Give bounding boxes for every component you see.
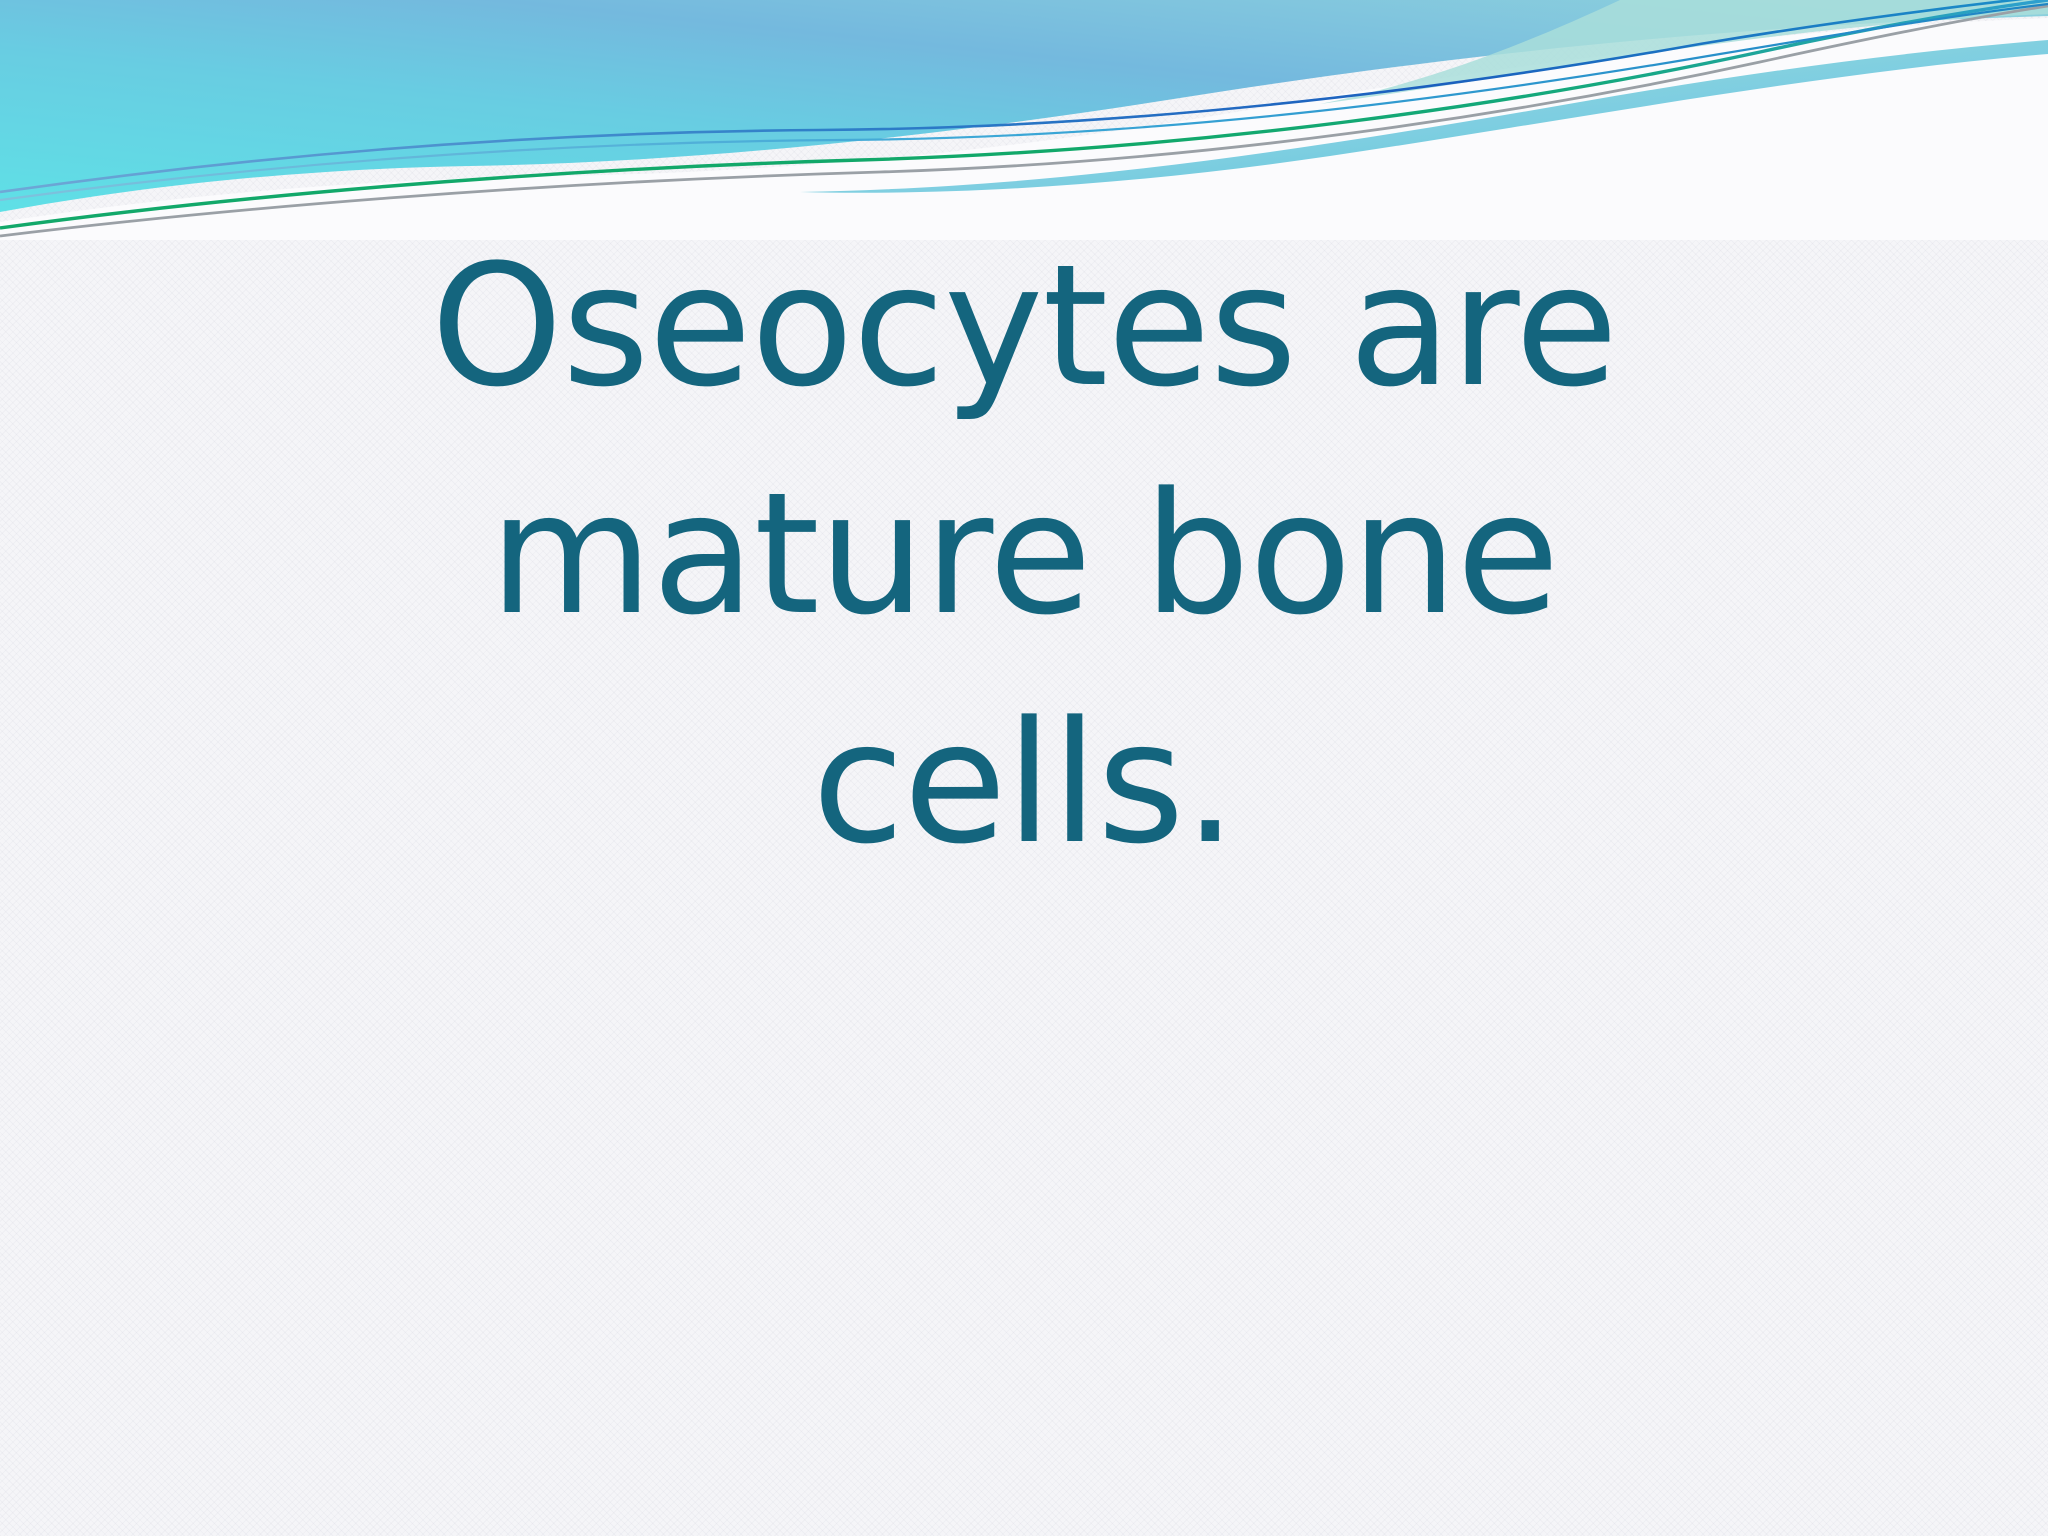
header-decoration-artwork [0,0,2048,240]
title-line-3: cells. [244,669,1804,897]
slide-title-textbox[interactable]: Oseocytes are mature bone cells. [244,212,1804,897]
title-line-2: mature bone [244,440,1804,668]
presentation-slide: Oseocytes are mature bone cells. [0,0,2048,1536]
title-line-1: Oseocytes are [244,212,1804,440]
